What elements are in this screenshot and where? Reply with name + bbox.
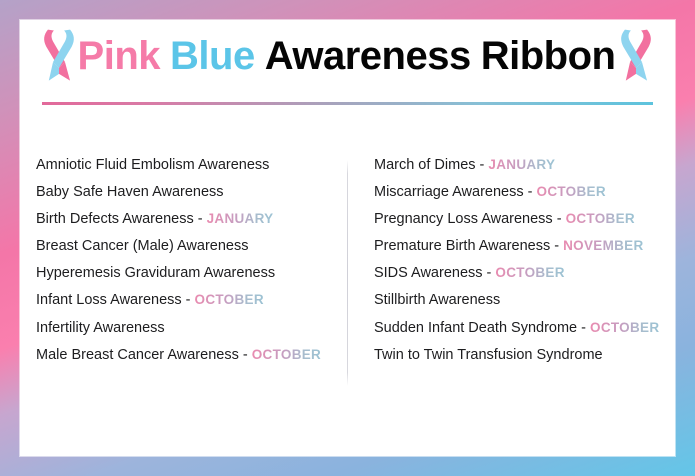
awareness-separator: - xyxy=(577,320,590,336)
awareness-name: SIDS Awareness xyxy=(374,265,483,281)
page-header: Pink Blue Awareness Ribbon xyxy=(20,20,675,92)
awareness-name: Birth Defects Awareness xyxy=(36,211,194,227)
awareness-list-item: Male Breast Cancer Awareness - OCTOBER xyxy=(36,348,337,375)
awareness-list-item: Birth Defects Awareness - JANUARY xyxy=(36,212,337,239)
awareness-list-item: Breast Cancer (Male) Awareness xyxy=(36,239,337,266)
awareness-list-item: SIDS Awareness - OCTOBER xyxy=(374,266,663,293)
awareness-month: OCTOBER xyxy=(495,265,564,280)
awareness-name: Hyperemesis Graviduram Awareness xyxy=(36,265,275,281)
awareness-list-item: Sudden Infant Death Syndrome - OCTOBER xyxy=(374,321,663,348)
awareness-list-item: Hyperemesis Graviduram Awareness xyxy=(36,266,337,293)
awareness-list-item: Infant Loss Awareness - OCTOBER xyxy=(36,293,337,320)
awareness-separator: - xyxy=(550,238,563,254)
awareness-list-item: Pregnancy Loss Awareness - OCTOBER xyxy=(374,212,663,239)
awareness-name: Pregnancy Loss Awareness xyxy=(374,211,553,227)
awareness-list: Amniotic Fluid Embolism AwarenessBaby Sa… xyxy=(20,142,675,404)
awareness-list-item: March of Dimes - JANUARY xyxy=(374,158,663,185)
awareness-separator: - xyxy=(524,184,537,200)
awareness-list-item: Amniotic Fluid Embolism Awareness xyxy=(36,158,337,185)
title-word-awareness: Awareness xyxy=(265,36,471,76)
awareness-name: Premature Birth Awareness xyxy=(374,238,550,254)
awareness-ribbon-icon xyxy=(42,27,76,85)
awareness-month: JANUARY xyxy=(488,157,555,172)
awareness-list-item: Baby Safe Haven Awareness xyxy=(36,185,337,212)
awareness-name: Infertility Awareness xyxy=(36,320,165,336)
title-word-blue: Blue xyxy=(170,36,255,76)
awareness-month: OCTOBER xyxy=(590,320,659,335)
awareness-month: OCTOBER xyxy=(195,292,264,307)
awareness-list-item: Infertility Awareness xyxy=(36,321,337,348)
awareness-name: March of Dimes xyxy=(374,157,476,173)
awareness-name: Sudden Infant Death Syndrome xyxy=(374,320,577,336)
awareness-name: Male Breast Cancer Awareness xyxy=(36,347,239,363)
awareness-name: Stillbirth Awareness xyxy=(374,292,500,308)
awareness-separator: - xyxy=(483,265,496,281)
awareness-month: JANUARY xyxy=(207,211,274,226)
awareness-month: OCTOBER xyxy=(252,347,321,362)
awareness-column-right: March of Dimes - JANUARYMiscarriage Awar… xyxy=(348,142,675,404)
awareness-column-left: Amniotic Fluid Embolism AwarenessBaby Sa… xyxy=(20,142,347,404)
awareness-month: OCTOBER xyxy=(566,211,635,226)
title-underline-rule xyxy=(42,102,653,105)
title-word-ribbon: Ribbon xyxy=(481,36,616,76)
awareness-separator: - xyxy=(194,211,207,227)
awareness-list-item: Stillbirth Awareness xyxy=(374,293,663,320)
awareness-ribbon-icon xyxy=(619,27,653,85)
brand-title: Pink Blue Awareness Ribbon xyxy=(78,36,616,76)
awareness-separator: - xyxy=(239,347,252,363)
awareness-separator: - xyxy=(182,292,195,308)
awareness-name: Infant Loss Awareness xyxy=(36,292,182,308)
awareness-month: OCTOBER xyxy=(537,184,606,199)
awareness-list-item: Premature Birth Awareness - NOVEMBER xyxy=(374,239,663,266)
title-word-pink: Pink xyxy=(78,36,160,76)
content-card: Pink Blue Awareness Ribbon Amniotic Flui… xyxy=(20,20,675,456)
awareness-separator: - xyxy=(476,157,489,173)
awareness-separator: - xyxy=(553,211,566,227)
awareness-name: Amniotic Fluid Embolism Awareness xyxy=(36,157,269,173)
awareness-list-item: Miscarriage Awareness - OCTOBER xyxy=(374,185,663,212)
awareness-name: Twin to Twin Transfusion Syndrome xyxy=(374,347,603,363)
awareness-name: Baby Safe Haven Awareness xyxy=(36,184,224,200)
awareness-month: NOVEMBER xyxy=(563,238,643,253)
awareness-name: Breast Cancer (Male) Awareness xyxy=(36,238,249,254)
gradient-frame: Pink Blue Awareness Ribbon Amniotic Flui… xyxy=(0,0,695,476)
awareness-name: Miscarriage Awareness xyxy=(374,184,524,200)
awareness-list-item: Twin to Twin Transfusion Syndrome xyxy=(374,348,663,375)
